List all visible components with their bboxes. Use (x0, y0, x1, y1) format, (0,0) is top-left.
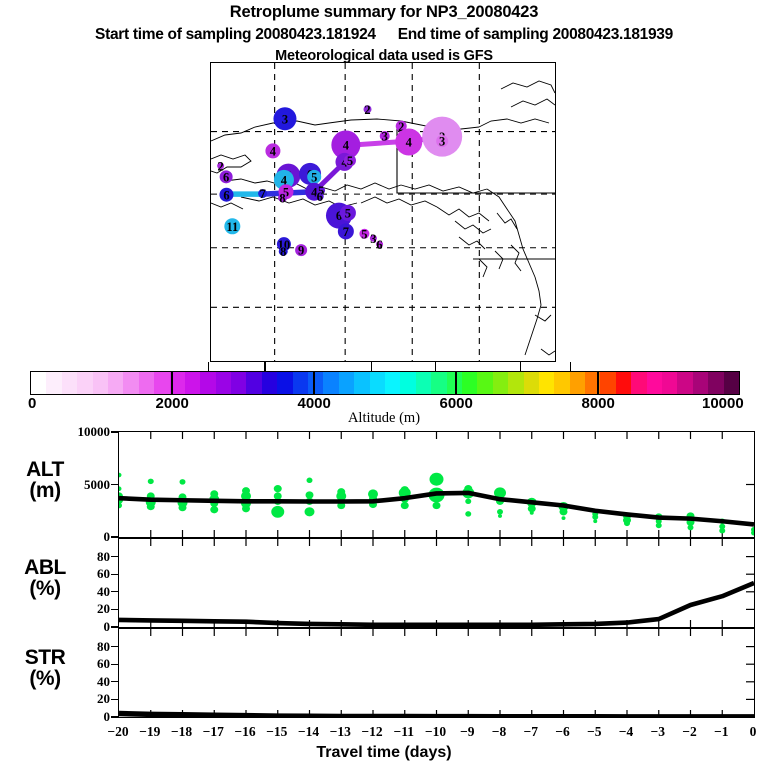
abl-plot-canvas (119, 539, 754, 627)
coastline (459, 237, 485, 249)
coastline (495, 251, 503, 269)
str-y-tick-mark (111, 716, 118, 717)
colorbar-cell (677, 372, 692, 394)
plume-marker-label: 3 (382, 130, 388, 144)
abl-y-tick-label: 80 (50, 549, 110, 565)
alt-scatter-point (530, 511, 534, 515)
colorbar-cell (62, 372, 77, 394)
colorbar-cell (93, 372, 108, 394)
colorbar-cell (570, 372, 585, 394)
plume-marker-label: 5 (347, 154, 353, 168)
plume-marker-label: 7 (343, 225, 349, 239)
abl-y-tick-mark (111, 609, 118, 610)
str-y-tick-mark (111, 681, 118, 682)
alt-scatter-point (433, 502, 441, 509)
colorbar-cell (185, 372, 200, 394)
coastline (525, 277, 541, 355)
plume-marker-label: 6 (376, 238, 382, 252)
x-axis-title: Travel time (days) (0, 744, 768, 762)
altitude-colorbar[interactable] (30, 371, 740, 395)
alt-y-tick-mark (111, 536, 118, 537)
colorbar-cell (708, 372, 723, 394)
x-tick-label: −13 (323, 724, 357, 740)
str-y-tick-label: 0 (50, 709, 110, 725)
alt-scatter-point (624, 521, 630, 527)
colorbar-cell (616, 372, 631, 394)
x-tick-label: −9 (450, 724, 484, 740)
plume-marker-label: 5 (345, 206, 351, 220)
x-tick-label: −20 (101, 724, 135, 740)
alt-scatter-point (401, 502, 409, 509)
colorbar-cell (524, 372, 539, 394)
alt-scatter-point (306, 491, 314, 498)
start-time-label: Start time of sampling 20080423.181924 (95, 26, 376, 44)
alt-scatter-point (465, 511, 471, 517)
alt-scatter-point (498, 514, 502, 518)
colorbar-cell (693, 372, 708, 394)
str-panel[interactable] (118, 628, 755, 718)
alt-scatter-point (592, 514, 598, 520)
x-tick-label: −12 (355, 724, 389, 740)
colorbar-cell (231, 372, 246, 394)
alt-panel[interactable] (118, 431, 755, 538)
map-canvas: 3244324123452654657658456651175361089 (211, 63, 555, 361)
coastline (497, 213, 517, 229)
colorbar-cell (277, 372, 292, 394)
plume-marker-label: 3 (439, 135, 445, 149)
colorbar-cell (46, 372, 61, 394)
abl-y-tick-label: 40 (50, 584, 110, 600)
colorbar-cell (323, 372, 338, 394)
colorbar-cell (539, 372, 554, 394)
alt-y-tick-label: 5000 (50, 477, 110, 493)
colorbar-tick (435, 362, 436, 371)
coastline (479, 259, 487, 277)
plume-marker-label: 4 (343, 139, 350, 153)
colorbar-cell (216, 372, 231, 394)
alt-scatter-point (242, 505, 250, 512)
page-title: Retroplume summary for NP3_20080423 (0, 3, 768, 22)
str-y-tick-label: 60 (50, 656, 110, 672)
plume-marker-label: 6 (317, 190, 323, 204)
abl-y-tick-label: 60 (50, 566, 110, 582)
x-tick-label: −16 (228, 724, 262, 740)
alt-scatter-point (180, 479, 186, 485)
abl-y-tick-mark (111, 556, 118, 557)
plume-marker-label: 6 (223, 188, 229, 202)
plume-marker-label: 5 (311, 170, 317, 184)
colorbar-cell (431, 372, 446, 394)
colorbar-cell (262, 372, 277, 394)
abl-panel[interactable] (118, 538, 755, 628)
retroplume-map[interactable]: 3244324123452654657658456651175361089 (210, 62, 556, 362)
coastline (455, 221, 491, 233)
colorbar-gradient (30, 371, 740, 395)
colorbar-cell (554, 372, 569, 394)
colorbar-cell (31, 372, 46, 394)
plume-marker-label: 2 (364, 103, 370, 117)
colorbar-cell (339, 372, 354, 394)
abl-y-tick-mark (111, 574, 118, 575)
x-tick-label: −3 (641, 724, 675, 740)
colorbar-cell (647, 372, 662, 394)
colorbar-cell (477, 372, 492, 394)
str-y-tick-label: 40 (50, 674, 110, 690)
alt-scatter-point (719, 528, 725, 534)
x-tick-label: 0 (736, 724, 768, 740)
x-tick-label: −1 (704, 724, 738, 740)
plume-marker-label: 8 (280, 245, 286, 259)
colorbar-cell (508, 372, 523, 394)
plume-marker-label: 5 (361, 227, 367, 241)
alt-scatter-point (148, 479, 154, 485)
alt-scatter-point (305, 507, 315, 516)
colorbar-cell (77, 372, 92, 394)
str-y-tick-label: 80 (50, 639, 110, 655)
alt-scatter-point (656, 523, 662, 529)
colorbar-cell (462, 372, 477, 394)
colorbar-cell (493, 372, 508, 394)
alt-scatter-point (179, 504, 187, 511)
colorbar-cell (246, 372, 261, 394)
border-line (397, 125, 555, 193)
coastline (511, 99, 555, 107)
x-tick-label: −18 (165, 724, 199, 740)
alt-scatter-point (271, 506, 284, 518)
alt-scatter-point (274, 485, 282, 492)
alt-scatter-point (119, 486, 122, 491)
colorbar-cell (385, 372, 400, 394)
coastline (479, 119, 549, 127)
colorbar-tick (520, 362, 521, 371)
alt-y-tick-mark (111, 484, 118, 485)
alt-scatter-point (119, 503, 122, 509)
alt-scatter-point (147, 503, 155, 510)
colorbar-cell (139, 372, 154, 394)
colorbar-cell (724, 372, 739, 394)
alt-y-tick-label: 10000 (50, 424, 110, 440)
alt-scatter-point (688, 525, 694, 531)
abl-mean-line (119, 583, 754, 625)
str-plot-canvas (119, 629, 754, 717)
colorbar-cell (370, 372, 385, 394)
x-tick-label: −11 (387, 724, 421, 740)
plume-marker-label: 4 (270, 145, 277, 159)
colorbar-cell (631, 372, 646, 394)
alt-scatter-point (562, 516, 566, 520)
colorbar-cell (354, 372, 369, 394)
colorbar-axis-title: Altitude (m) (0, 410, 768, 427)
colorbar-tick (264, 362, 265, 371)
coastline (501, 81, 555, 93)
alt-y-tick-label: 0 (50, 529, 110, 545)
alt-scatter-point (497, 509, 503, 515)
colorbar-cell (154, 372, 169, 394)
alt-scatter-point (465, 499, 471, 505)
alt-y-tick-mark (111, 431, 118, 432)
coastline (541, 349, 555, 355)
plume-marker-label: 7 (259, 187, 265, 201)
abl-y-tick-mark (111, 626, 118, 627)
colorbar-cell (108, 372, 123, 394)
colorbar-section-divider (171, 371, 173, 395)
str-y-tick-mark (111, 664, 118, 665)
abl-y-tick-mark (111, 591, 118, 592)
end-time-label: End time of sampling 20080423.181939 (398, 26, 673, 44)
coastline (437, 207, 489, 221)
alt-scatter-point (430, 473, 444, 486)
coastline (401, 185, 487, 193)
coastline (211, 203, 243, 209)
plume-marker-label: 4 (406, 136, 413, 150)
plume-marker-label: 8 (279, 191, 285, 205)
colorbar-cell (123, 372, 138, 394)
str-y-tick-label: 20 (50, 691, 110, 707)
alt-scatter-point (307, 478, 313, 484)
colorbar-tick (371, 362, 372, 371)
coastline (511, 245, 521, 271)
str-y-tick-mark (111, 646, 118, 647)
coastline (361, 197, 437, 207)
colorbar-section-divider (597, 371, 599, 395)
colorbar-cell (662, 372, 677, 394)
abl-y-tick-label: 20 (50, 601, 110, 617)
plume-marker-label: 3 (282, 112, 288, 126)
x-tick-label: −5 (577, 724, 611, 740)
colorbar-cell (400, 372, 415, 394)
x-tick-label: −7 (514, 724, 548, 740)
alt-scatter-point (210, 506, 218, 513)
abl-y-tick-label: 0 (50, 619, 110, 635)
plume-marker-label: 11 (226, 220, 238, 234)
alt-scatter-point (560, 508, 568, 515)
colorbar-cell (200, 372, 215, 394)
x-tick-label: −14 (292, 724, 326, 740)
x-tick-label: −10 (419, 724, 453, 740)
colorbar-section-divider (313, 371, 315, 395)
alt-plot-canvas (119, 432, 754, 537)
colorbar-section-divider (455, 371, 457, 395)
x-tick-label: −8 (482, 724, 516, 740)
alt-scatter-point (593, 519, 597, 523)
sampling-time-line: Start time of sampling 20080423.181924En… (0, 26, 768, 44)
colorbar-cell (416, 372, 431, 394)
colorbar-cell (293, 372, 308, 394)
x-tick-label: −19 (133, 724, 167, 740)
x-tick-label: −17 (196, 724, 230, 740)
x-tick-label: −15 (260, 724, 294, 740)
colorbar-cell (600, 372, 615, 394)
plume-marker-label: 9 (298, 244, 304, 258)
plume-marker-label: 6 (223, 170, 229, 184)
x-tick-label: −2 (673, 724, 707, 740)
alt-scatter-point (119, 473, 122, 478)
colorbar-tick (208, 362, 209, 371)
colorbar-tick (570, 362, 571, 371)
str-y-tick-mark (111, 699, 118, 700)
x-tick-label: −6 (546, 724, 580, 740)
colorbar-cell (308, 372, 323, 394)
x-tick-label: −4 (609, 724, 643, 740)
x-axis-tick-labels: −20−19−18−17−16−15−14−13−12−11−10−9−8−7−… (0, 724, 768, 742)
coastline (487, 189, 535, 277)
